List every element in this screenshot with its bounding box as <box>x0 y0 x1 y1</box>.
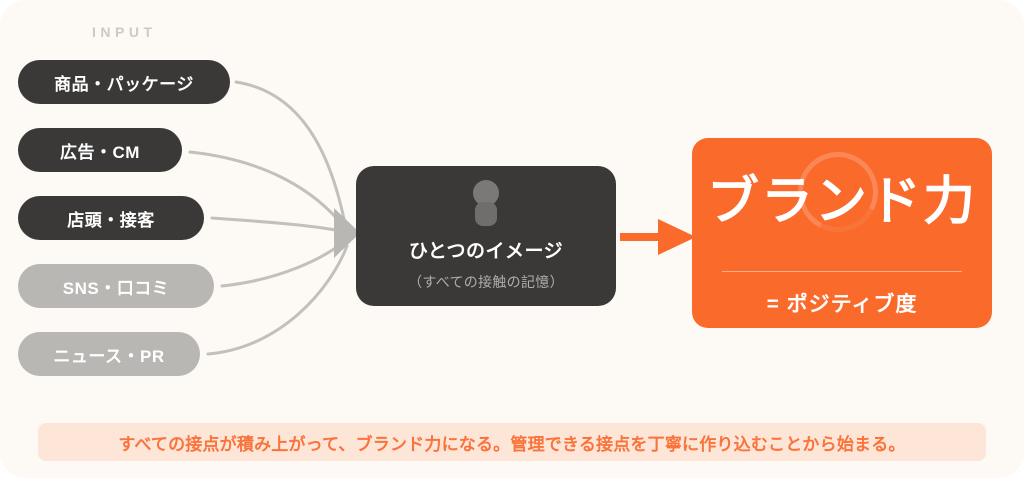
input-pill-label: 店頭・接客 <box>67 206 155 231</box>
input-column-label: INPUT <box>92 24 157 40</box>
orange-arrow-icon <box>620 215 696 259</box>
input-pill-store-service[interactable]: 店頭・接客 <box>18 196 204 240</box>
input-pill-product-package[interactable]: 商品・パッケージ <box>18 60 230 104</box>
diagram-canvas: INPUT 商品・パッケージ 広告・CM 店頭・接客 SNS・口コミ ニュース・… <box>0 0 1024 478</box>
result-divider <box>722 271 962 272</box>
result-node-title: ブランド力 <box>692 176 992 228</box>
input-pill-label: 商品・パッケージ <box>54 70 194 95</box>
center-node-subtitle: （すべての接触の記憶） <box>408 272 564 292</box>
input-pill-advertising-cm[interactable]: 広告・CM <box>18 128 182 172</box>
center-node-title: ひとつのイメージ <box>409 236 563 263</box>
person-icon <box>469 180 503 228</box>
summary-banner-text: すべての接点が積み上がって、ブランド力になる。管理できる接点を丁寧に作り込むこと… <box>118 430 905 455</box>
result-node-subtitle: = ポジティブ度 <box>692 288 992 318</box>
input-pill-news-pr[interactable]: ニュース・PR <box>18 332 200 376</box>
result-node-card[interactable]: ブランド力 = ポジティブ度 <box>692 138 992 328</box>
input-pill-label: 広告・CM <box>60 138 140 163</box>
input-pill-label: ニュース・PR <box>53 342 164 367</box>
center-node-card[interactable]: ひとつのイメージ （すべての接触の記憶） <box>356 166 616 306</box>
summary-banner: すべての接点が積み上がって、ブランド力になる。管理できる接点を丁寧に作り込むこと… <box>38 423 986 461</box>
input-pill-label: SNS・口コミ <box>63 274 169 299</box>
input-pill-sns-wom[interactable]: SNS・口コミ <box>18 264 214 308</box>
person-icon-body <box>475 202 497 226</box>
